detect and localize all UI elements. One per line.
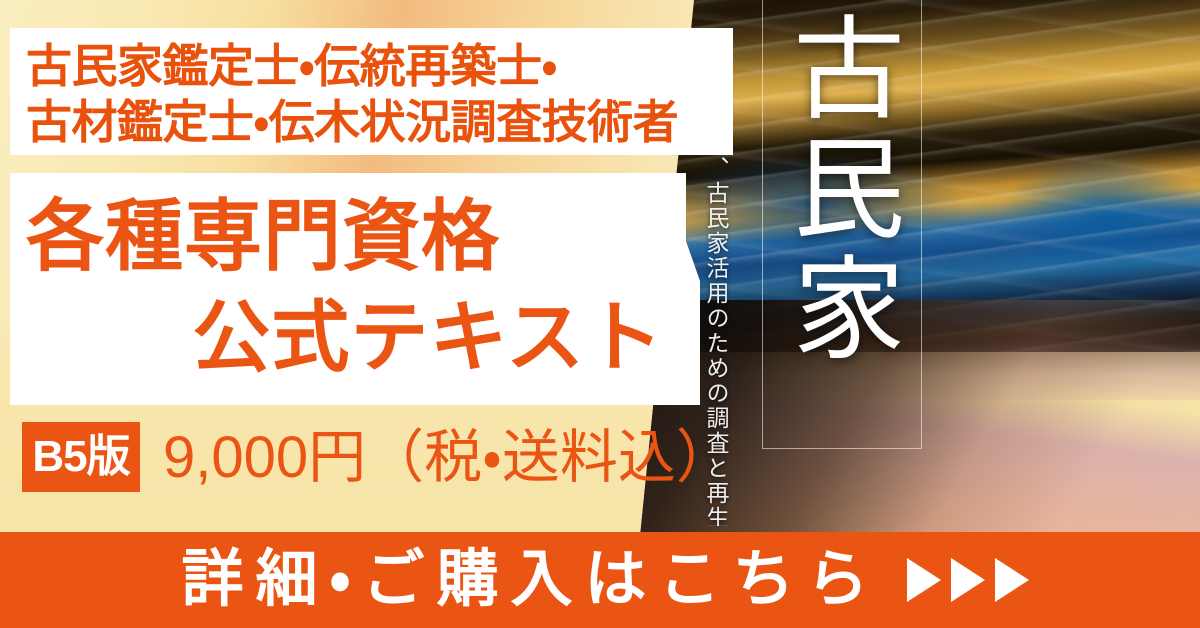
main-title-text: 各種専門資格 公式テキスト — [18, 186, 678, 389]
headline-line-2: 古材鑑定士・伝木状況調査技術者 — [26, 96, 678, 148]
price-text: 9,000円（税・送料込） — [163, 424, 734, 492]
main-title-line-1: 各種専門資格 — [18, 186, 678, 287]
main-title-line-2: 公式テキスト — [18, 287, 678, 388]
book-cover-title: 古民家 — [782, 10, 902, 370]
cta-arrows — [907, 558, 1029, 602]
headline-text: 古民家鑑定士・伝統再築士・ 古材鑑定士・伝木状況調査技術者 — [26, 38, 678, 150]
chevron-right-icon — [907, 558, 941, 602]
headline-card: 古民家鑑定士・伝統再築士・ 古材鑑定士・伝木状況調査技術者 — [10, 28, 733, 155]
chevron-right-icon — [951, 558, 985, 602]
cta-button[interactable]: 詳細・ご購入はこちら — [0, 532, 1200, 628]
cta-label: 詳細・ご購入はこちら — [181, 549, 880, 611]
chevron-right-icon — [995, 558, 1029, 602]
size-badge: B5版 — [22, 422, 140, 492]
headline-line-1: 古民家鑑定士・伝統再築士・ — [26, 40, 557, 92]
promo-banner: 伝統構法、古民家活用のための調査と再生の 古民家 古民家鑑定士・伝統再築士・ 古… — [0, 0, 1200, 628]
